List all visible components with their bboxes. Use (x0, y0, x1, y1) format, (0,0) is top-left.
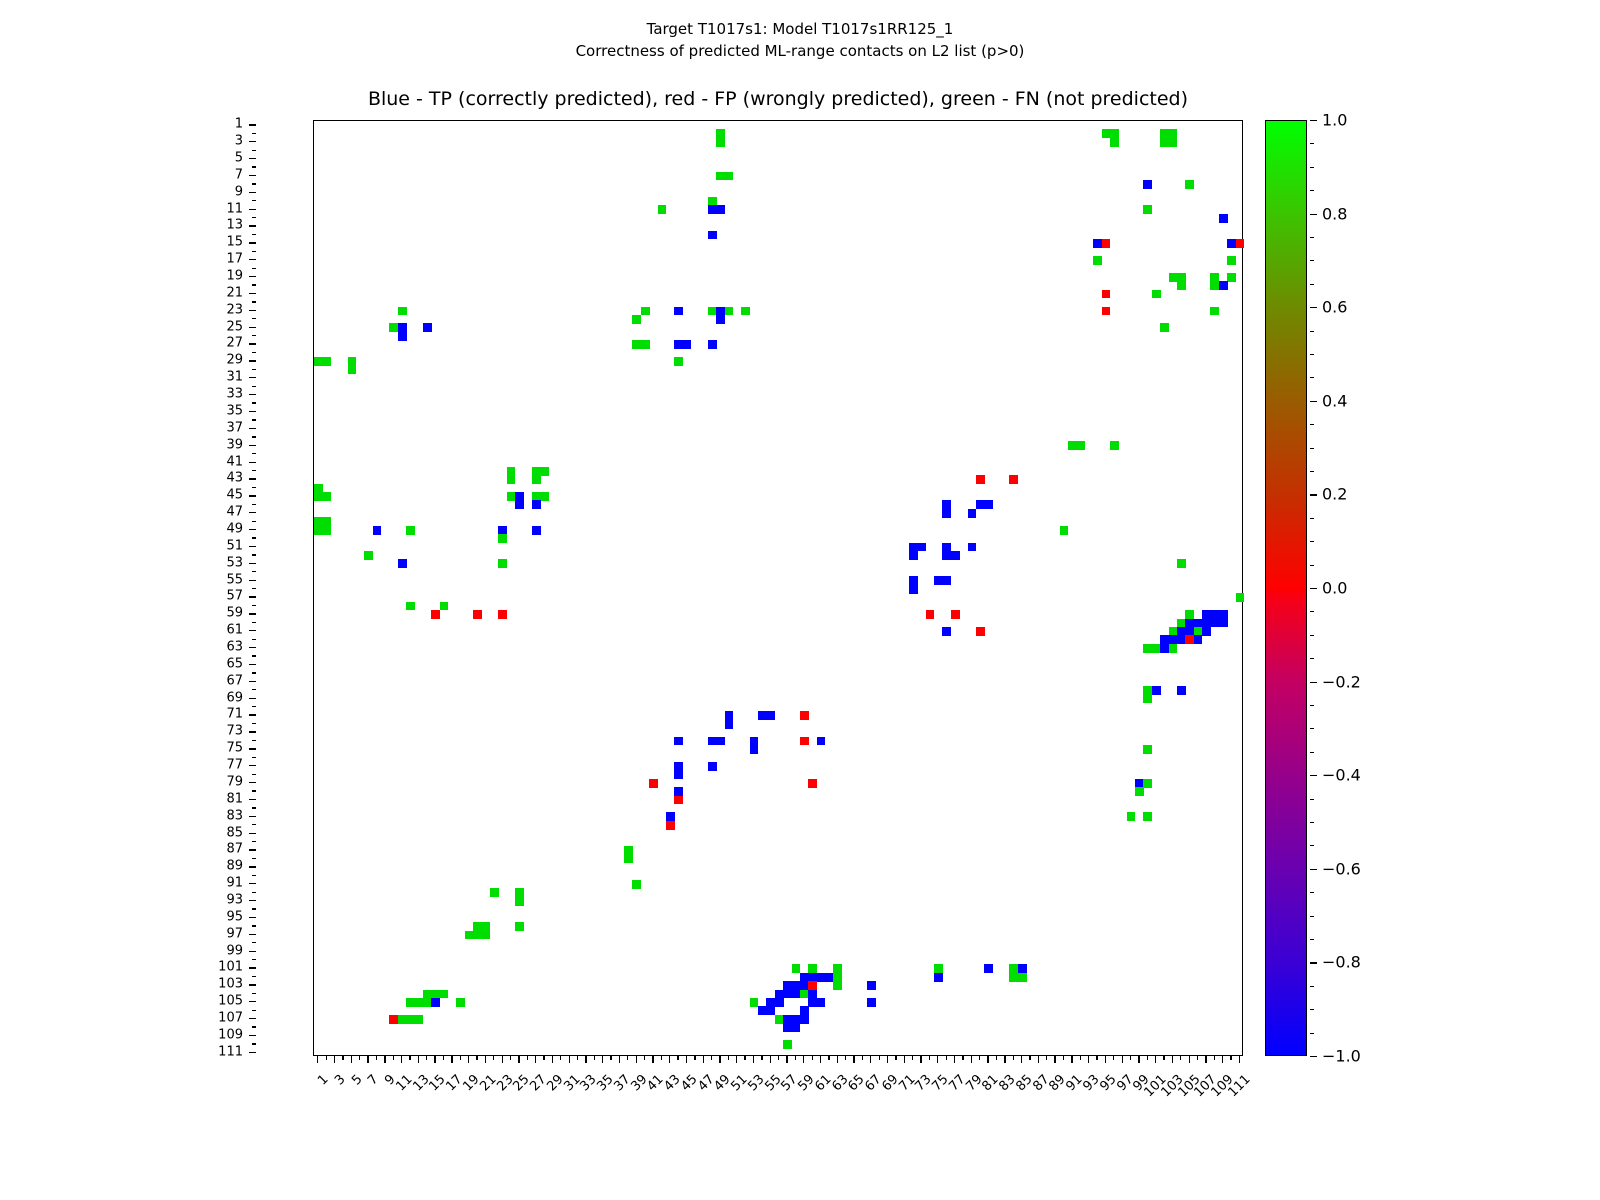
contact-cell (540, 492, 549, 501)
colorbar-minor-tick (1310, 1009, 1314, 1010)
contact-cell (1219, 214, 1228, 223)
contact-cell (1110, 441, 1119, 450)
y-tick-mark (249, 209, 256, 210)
y-tick-mark (252, 268, 256, 269)
contact-cell (867, 998, 876, 1007)
y-tick-mark (249, 242, 256, 243)
y-tick-mark (252, 133, 256, 134)
contact-cell (1102, 239, 1111, 248)
colorbar-gradient (1265, 120, 1307, 1056)
x-tick-mark (627, 1056, 628, 1060)
y-tick-mark (249, 647, 256, 648)
y-tick-label: 33 (183, 387, 243, 402)
x-tick-mark (1071, 1056, 1072, 1063)
contact-cell (917, 543, 926, 552)
y-tick-mark (252, 335, 256, 336)
colorbar-minor-tick (1310, 260, 1314, 261)
contact-cell (674, 357, 683, 366)
y-tick-mark (252, 622, 256, 623)
y-tick-label: 1 (183, 117, 243, 132)
contact-cell (1102, 307, 1111, 316)
x-tick-mark (384, 1056, 385, 1063)
y-tick-mark (249, 192, 256, 193)
contact-cell (532, 475, 541, 484)
contact-cell (406, 602, 415, 611)
contact-cell (674, 796, 683, 805)
x-tick-mark (1013, 1056, 1014, 1060)
x-tick-mark (552, 1056, 553, 1063)
contact-cell (1185, 180, 1194, 189)
x-tick-mark (1088, 1056, 1089, 1063)
contact-cell (624, 855, 633, 864)
y-tick-mark (252, 419, 256, 420)
contact-cell (1169, 644, 1178, 653)
y-tick-mark (252, 453, 256, 454)
y-tick-mark (252, 841, 256, 842)
contact-cell (867, 981, 876, 990)
colorbar-minor-tick (1310, 588, 1314, 589)
y-tick-mark (249, 462, 256, 463)
y-tick-mark (249, 917, 256, 918)
x-tick-mark (904, 1056, 905, 1063)
y-tick-mark (249, 580, 256, 581)
x-tick-mark (812, 1056, 813, 1060)
x-tick-mark (845, 1056, 846, 1060)
x-tick-mark (1138, 1056, 1139, 1063)
y-tick-label: 51 (183, 538, 243, 553)
x-tick-mark (652, 1056, 653, 1063)
contact-cell (708, 231, 717, 240)
colorbar-minor-tick (1310, 682, 1314, 683)
y-tick-mark (249, 377, 256, 378)
contact-cell (1135, 787, 1144, 796)
contact-cell (942, 576, 951, 585)
x-tick-mark (661, 1056, 662, 1060)
y-tick-mark (249, 411, 256, 412)
x-tick-mark (1054, 1056, 1055, 1063)
contact-cell (708, 340, 717, 349)
contact-cell (1143, 205, 1152, 214)
x-tick-mark (1214, 1056, 1215, 1060)
x-tick-mark (376, 1056, 377, 1060)
y-tick-label: 27 (183, 336, 243, 351)
x-tick-mark (1046, 1056, 1047, 1060)
x-tick-mark (1189, 1056, 1190, 1063)
y-tick-mark (249, 293, 256, 294)
y-tick-mark (252, 892, 256, 893)
y-tick-mark (252, 605, 256, 606)
y-tick-label: 85 (183, 825, 243, 840)
x-tick-mark (359, 1056, 360, 1060)
colorbar-minor-tick (1310, 986, 1314, 987)
colorbar-tick-label: 0.0 (1322, 579, 1347, 598)
colorbar-tick-label: 0.4 (1322, 391, 1347, 410)
y-tick-mark (249, 714, 256, 715)
x-tick-mark (367, 1056, 368, 1063)
y-axis: 1357911131517192123252729313335373941434… (0, 120, 313, 1056)
contact-cell (373, 526, 382, 535)
x-tick-mark (1004, 1056, 1005, 1063)
contact-cell (415, 1015, 424, 1024)
contact-cell (716, 138, 725, 147)
colorbar-minor-tick (1310, 424, 1314, 425)
colorbar-minor-tick (1310, 331, 1314, 332)
y-tick-label: 5 (183, 150, 243, 165)
colorbar-minor-tick (1310, 916, 1314, 917)
y-tick-label: 59 (183, 606, 243, 621)
contact-cell (1177, 281, 1186, 290)
x-tick-mark (610, 1056, 611, 1060)
contact-cell (440, 990, 449, 999)
contact-cell (322, 526, 331, 535)
y-tick-mark (252, 942, 256, 943)
contact-cell (942, 509, 951, 518)
contact-cell (1219, 281, 1228, 290)
y-tick-mark (252, 301, 256, 302)
contact-map-plot[interactable] (313, 120, 1243, 1056)
contact-cell (632, 315, 641, 324)
contact-cell (641, 307, 650, 316)
x-tick-mark (677, 1056, 678, 1060)
y-tick-mark (252, 436, 256, 437)
y-tick-label: 109 (183, 1027, 243, 1042)
y-tick-mark (252, 200, 256, 201)
y-tick-mark (249, 883, 256, 884)
colorbar-minor-tick (1310, 167, 1314, 168)
y-tick-label: 53 (183, 555, 243, 570)
x-tick-mark (1113, 1056, 1114, 1060)
y-tick-mark (252, 386, 256, 387)
y-tick-mark (252, 166, 256, 167)
contact-cell (725, 307, 734, 316)
figure-suptitle: Target T1017s1: Model T1017s1RR125_1 Cor… (0, 18, 1600, 62)
y-tick-label: 25 (183, 319, 243, 334)
contact-cell (540, 467, 549, 476)
y-tick-mark (252, 537, 256, 538)
y-tick-mark (249, 967, 256, 968)
contact-cell (741, 307, 750, 316)
y-tick-mark (249, 1052, 256, 1053)
x-tick-mark (468, 1056, 469, 1063)
y-tick-label: 11 (183, 201, 243, 216)
y-tick-mark (249, 1001, 256, 1002)
y-tick-label: 9 (183, 184, 243, 199)
contact-cell (515, 500, 524, 509)
x-tick-mark (585, 1056, 586, 1063)
contact-cell (322, 357, 331, 366)
colorbar-minor-tick (1310, 377, 1314, 378)
contact-cell (473, 610, 482, 619)
x-axis: 1357911131517192123252729313335373941434… (313, 1056, 1243, 1176)
colorbar-tick-label: 1.0 (1322, 111, 1347, 130)
y-tick-mark (249, 343, 256, 344)
x-tick-mark (979, 1056, 980, 1060)
y-tick-mark (252, 824, 256, 825)
y-tick-label: 37 (183, 420, 243, 435)
contact-cell (1160, 323, 1169, 332)
contact-cell (641, 340, 650, 349)
y-tick-mark (252, 234, 256, 235)
x-tick-mark (753, 1056, 754, 1063)
x-tick-mark (879, 1056, 880, 1060)
y-tick-mark (249, 310, 256, 311)
contact-cell (1127, 812, 1136, 821)
y-tick-mark (249, 529, 256, 530)
colorbar-tick-label: −0.6 (1322, 859, 1361, 878)
x-tick-mark (1122, 1056, 1123, 1063)
y-tick-mark (252, 993, 256, 994)
y-tick-label: 55 (183, 572, 243, 587)
axes-title: Blue - TP (correctly predicted), red - F… (313, 88, 1243, 110)
contact-cell (1143, 812, 1152, 821)
contact-cell (833, 981, 842, 990)
y-tick-mark (252, 521, 256, 522)
y-tick-mark (252, 504, 256, 505)
x-tick-mark (895, 1056, 896, 1060)
x-tick-mark (326, 1056, 327, 1060)
contact-cell (348, 366, 357, 375)
x-tick-mark (1197, 1056, 1198, 1060)
y-tick-label: 57 (183, 589, 243, 604)
y-tick-label: 95 (183, 909, 243, 924)
x-tick-mark (728, 1056, 729, 1060)
contact-cell (1060, 526, 1069, 535)
contact-cell (1093, 256, 1102, 265)
x-tick-mark (803, 1056, 804, 1063)
x-tick-mark (686, 1056, 687, 1063)
x-tick-mark (719, 1056, 720, 1063)
contact-cell (364, 551, 373, 560)
y-tick-mark (249, 276, 256, 277)
y-tick-label: 89 (183, 859, 243, 874)
y-tick-label: 97 (183, 926, 243, 941)
contact-cell (716, 737, 725, 746)
y-tick-mark (252, 251, 256, 252)
x-tick-mark (711, 1056, 712, 1060)
contact-cell (808, 779, 817, 788)
contact-cell (1177, 686, 1186, 695)
x-tick-mark (1172, 1056, 1173, 1063)
contact-cell (1152, 686, 1161, 695)
y-tick-label: 15 (183, 235, 243, 250)
y-tick-mark (249, 698, 256, 699)
y-tick-mark (249, 394, 256, 395)
y-tick-label: 79 (183, 774, 243, 789)
colorbar-minor-tick (1310, 892, 1314, 893)
y-tick-mark (252, 470, 256, 471)
y-tick-mark (252, 723, 256, 724)
x-tick-mark (644, 1056, 645, 1060)
colorbar-labels: 1.00.80.60.40.20.0−0.2−0.4−0.6−0.8−1.0 (1310, 120, 1430, 1056)
y-tick-label: 23 (183, 302, 243, 317)
y-tick-mark (249, 900, 256, 901)
x-tick-mark (778, 1056, 779, 1060)
x-tick-mark (703, 1056, 704, 1063)
contact-cell (532, 526, 541, 535)
x-tick-mark (485, 1056, 486, 1063)
x-tick-mark (962, 1056, 963, 1060)
y-tick-mark (249, 445, 256, 446)
contact-cell (658, 205, 667, 214)
y-tick-mark (249, 799, 256, 800)
colorbar-minor-tick (1310, 518, 1314, 519)
x-tick-mark (409, 1056, 410, 1060)
y-tick-mark (249, 849, 256, 850)
contact-cell (800, 1015, 809, 1024)
contact-cell (1236, 593, 1245, 602)
colorbar-tick-label: 0.6 (1322, 298, 1347, 317)
x-tick-mark (1096, 1056, 1097, 1060)
y-tick-mark (249, 816, 256, 817)
contact-cell (632, 880, 641, 889)
y-tick-mark (249, 630, 256, 631)
x-tick-mark (669, 1056, 670, 1063)
x-tick-mark (946, 1056, 947, 1060)
y-tick-mark (249, 158, 256, 159)
y-tick-mark (249, 1018, 256, 1019)
y-tick-label: 29 (183, 353, 243, 368)
colorbar-minor-tick (1310, 143, 1314, 144)
contact-cell (1110, 138, 1119, 147)
contact-cell (926, 610, 935, 619)
contact-cell (792, 1023, 801, 1032)
contact-cell (515, 897, 524, 906)
y-tick-label: 41 (183, 454, 243, 469)
x-tick-mark (636, 1056, 637, 1063)
y-tick-mark (252, 402, 256, 403)
colorbar-minor-tick (1310, 1056, 1314, 1057)
colorbar-tick-label: −0.8 (1322, 953, 1361, 972)
colorbar-minor-tick (1310, 1033, 1314, 1034)
contact-cell (683, 340, 692, 349)
y-tick-mark (249, 951, 256, 952)
x-tick-mark (744, 1056, 745, 1060)
x-tick-mark (1080, 1056, 1081, 1060)
y-tick-label: 49 (183, 521, 243, 536)
x-tick-mark (1163, 1056, 1164, 1060)
colorbar-minor-tick (1310, 190, 1314, 191)
y-tick-mark (252, 740, 256, 741)
colorbar-minor-tick (1310, 237, 1314, 238)
y-tick-label: 65 (183, 656, 243, 671)
contact-cell (1202, 627, 1211, 636)
x-tick-mark (1230, 1056, 1231, 1060)
x-tick-mark (870, 1056, 871, 1063)
contact-cell (716, 315, 725, 324)
x-tick-mark (510, 1056, 511, 1060)
x-tick-mark (560, 1056, 561, 1060)
x-tick-mark (1147, 1056, 1148, 1060)
y-tick-mark (249, 833, 256, 834)
y-tick-label: 69 (183, 690, 243, 705)
y-tick-label: 31 (183, 370, 243, 385)
x-tick-mark (493, 1056, 494, 1060)
x-tick-mark (971, 1056, 972, 1063)
y-tick-mark (252, 150, 256, 151)
colorbar-tick-label: −0.2 (1322, 672, 1361, 691)
contact-cell (498, 559, 507, 568)
contact-cell (322, 492, 331, 501)
y-tick-mark (249, 731, 256, 732)
x-tick-mark (1130, 1056, 1131, 1060)
x-tick-mark (443, 1056, 444, 1060)
y-tick-label: 19 (183, 269, 243, 284)
y-tick-mark (252, 976, 256, 977)
contact-cell (775, 998, 784, 1007)
contact-cell (1143, 180, 1152, 189)
contact-cell (456, 998, 465, 1007)
colorbar-minor-tick (1310, 775, 1314, 776)
y-tick-label: 107 (183, 1011, 243, 1026)
x-tick-mark (1063, 1056, 1064, 1060)
colorbar-minor-tick (1310, 635, 1314, 636)
contact-cell (984, 964, 993, 973)
contact-cell (1143, 779, 1152, 788)
y-tick-label: 35 (183, 403, 243, 418)
contact-cell (716, 205, 725, 214)
y-tick-label: 7 (183, 167, 243, 182)
y-tick-label: 21 (183, 285, 243, 300)
y-tick-mark (249, 782, 256, 783)
x-tick-mark (393, 1056, 394, 1060)
contact-cell (398, 559, 407, 568)
x-tick-mark (451, 1056, 452, 1063)
y-tick-label: 13 (183, 218, 243, 233)
contact-cell (800, 711, 809, 720)
y-tick-label: 77 (183, 758, 243, 773)
colorbar-tick-label: −1.0 (1322, 1047, 1361, 1066)
y-tick-mark (249, 748, 256, 749)
y-tick-mark (249, 563, 256, 564)
y-tick-label: 3 (183, 134, 243, 149)
x-tick-mark (401, 1056, 402, 1063)
colorbar-minor-tick (1310, 471, 1314, 472)
contact-cell (800, 737, 809, 746)
colorbar-minor-tick (1310, 869, 1314, 870)
contact-cell (1143, 745, 1152, 754)
colorbar-minor-tick (1310, 494, 1314, 495)
colorbar-minor-tick (1310, 448, 1314, 449)
y-tick-label: 111 (183, 1044, 243, 1059)
colorbar-minor-tick (1310, 799, 1314, 800)
x-tick-mark (426, 1056, 427, 1060)
y-tick-label: 63 (183, 640, 243, 655)
y-tick-mark (252, 487, 256, 488)
x-tick-mark (434, 1056, 435, 1063)
x-tick-mark (937, 1056, 938, 1063)
x-tick-mark (1239, 1056, 1240, 1063)
x-tick-mark (853, 1056, 854, 1063)
x-tick-mark (1105, 1056, 1106, 1063)
contact-cell (817, 998, 826, 1007)
x-tick-mark (594, 1056, 595, 1060)
contact-cell (1236, 239, 1245, 248)
y-tick-mark (249, 1035, 256, 1036)
contact-cell (482, 931, 491, 940)
x-tick-mark (912, 1056, 913, 1060)
x-tick-mark (418, 1056, 419, 1063)
contact-cell (1227, 273, 1236, 282)
x-tick-mark (602, 1056, 603, 1063)
x-tick-mark (820, 1056, 821, 1063)
y-tick-label: 87 (183, 842, 243, 857)
y-tick-label: 73 (183, 724, 243, 739)
contact-cell (674, 737, 683, 746)
colorbar-minor-tick (1310, 822, 1314, 823)
y-tick-mark (252, 369, 256, 370)
y-tick-mark (252, 790, 256, 791)
x-tick-mark (987, 1056, 988, 1063)
